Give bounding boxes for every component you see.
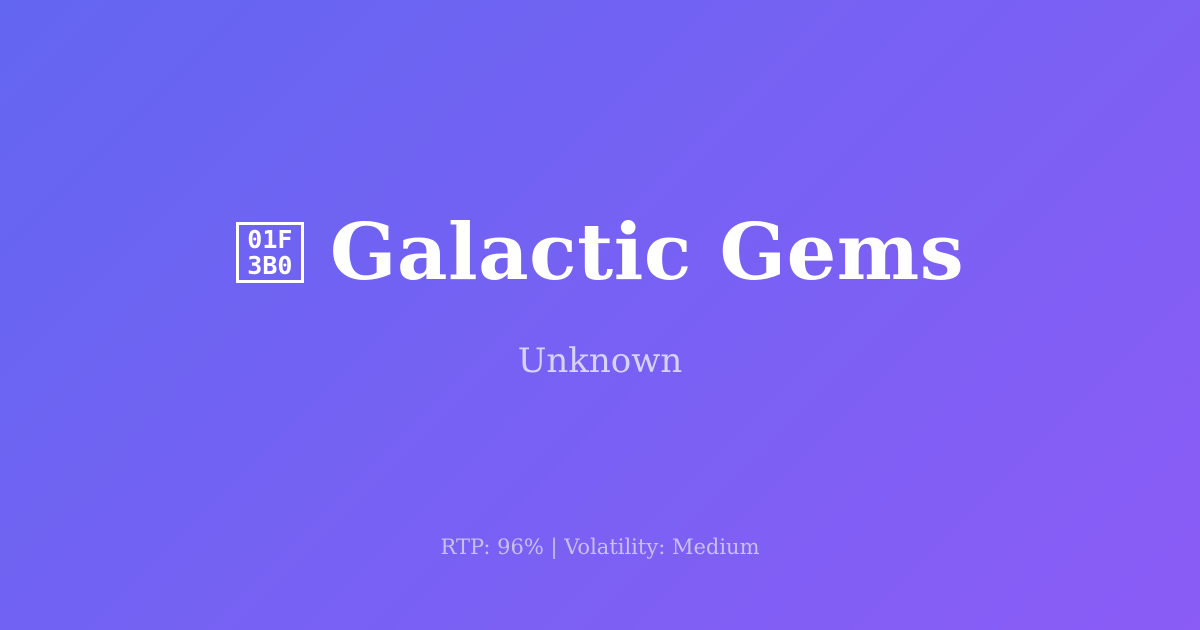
og-card: 01F 3B0 Galactic Gems Unknown RTP: 96% |… xyxy=(0,0,1200,630)
hero-row: 01F 3B0 Galactic Gems xyxy=(236,212,964,293)
meta-info: RTP: 96% | Volatility: Medium xyxy=(0,535,1200,560)
codepoint-top: 01F xyxy=(247,227,292,253)
slot-machine-icon: 01F 3B0 xyxy=(236,222,304,283)
subtitle: Unknown xyxy=(518,341,683,382)
page-title: Galactic Gems xyxy=(330,212,964,293)
codepoint-bottom: 3B0 xyxy=(247,253,292,279)
